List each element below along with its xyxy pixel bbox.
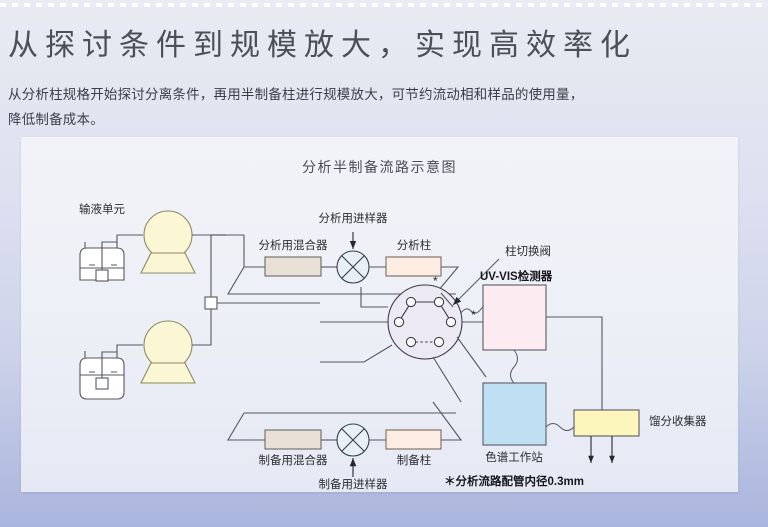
label-prep-mixer: 制备用混合器	[259, 453, 328, 467]
analytical-injector	[337, 251, 369, 283]
page-headline: 从探讨条件到规模放大，实现高效率化	[8, 26, 748, 66]
prep-column-box	[386, 430, 441, 449]
page-root: 从探讨条件到规模放大，实现高效率化 从分析柱规格开始探讨分离条件，再用半制备柱进…	[0, 0, 768, 527]
lead-paragraph: 从分析柱规格开始探讨分离条件，再用半制备柱进行规模放大，可节约流动相和样品的使用…	[8, 82, 738, 132]
pump-analytical	[141, 211, 195, 273]
label-prep-column: 制备柱	[397, 453, 432, 467]
label-analytical-mixer: 分析用混合器	[259, 238, 328, 252]
fraction-collector-box	[574, 410, 639, 436]
label-prep-injector: 制备用进样器	[319, 477, 388, 491]
label-delivery-unit: 输液单元	[79, 202, 125, 216]
lead-line-1: 从分析柱规格开始探讨分离条件，再用半制备柱进行规模放大，可节约流动相和样品的使用…	[8, 82, 738, 107]
uv-vis-detector-box	[483, 285, 546, 350]
top-dotted-rule	[0, 3, 768, 7]
tee-junction	[205, 297, 217, 309]
analytical-mixer-box	[265, 257, 321, 276]
label-analytical-injector: 分析用进样器	[319, 211, 388, 225]
flow-diagram: 输液单元 分析用混合器 分析用进样器 分析柱 柱切换阀 UV-VIS检测器 制备…	[21, 137, 738, 492]
diagram-panel: 分析半制备流路示意图	[21, 137, 738, 492]
chromato-workstation-box	[483, 383, 546, 445]
prep-injector	[337, 424, 369, 456]
diagram-footnote: ＊分析流路配管内径0.3mm	[444, 474, 584, 488]
prep-mixer-box	[265, 430, 321, 449]
label-analytical-column: 分析柱	[397, 238, 432, 252]
star-marker-top: *	[433, 274, 438, 288]
column-switching-valve	[388, 285, 462, 359]
label-fraction-collector: 馏分收集器	[649, 414, 707, 428]
label-chromato-workstation: 色谱工作站	[485, 450, 543, 464]
pump-prep	[141, 321, 195, 383]
lead-line-2: 降低制备成本。	[8, 107, 738, 132]
label-uv-vis-detector: UV-VIS检测器	[480, 269, 553, 283]
star-marker-mid: *	[471, 308, 476, 322]
label-column-switching-valve: 柱切换阀	[505, 244, 551, 258]
